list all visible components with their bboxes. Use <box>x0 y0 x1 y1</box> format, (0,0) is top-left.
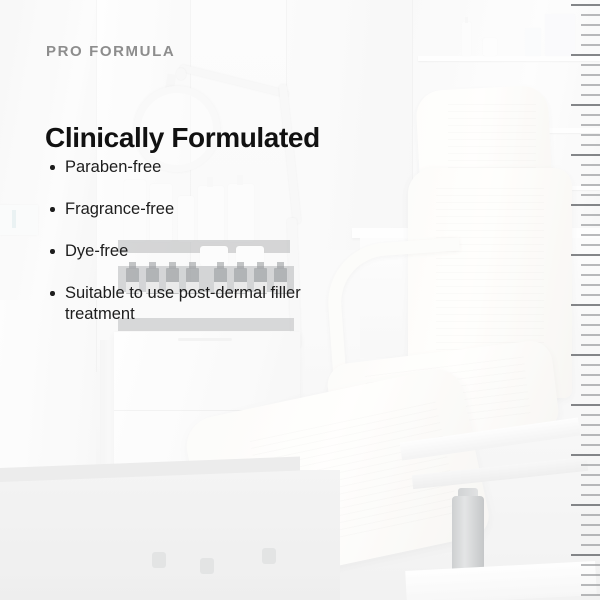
brand-eyebrow: PRO FORMULA <box>46 43 175 60</box>
page-title: Clinically Formulated <box>45 122 320 154</box>
promo-card: PRO FORMULA Clinically Formulated Parabe… <box>0 0 600 600</box>
benefit-item: Suitable to use post-dermal filler treat… <box>46 283 346 325</box>
benefit-item: Dye-free <box>46 241 346 262</box>
benefit-item: Fragrance-free <box>46 199 346 220</box>
benefits-list: Paraben-freeFragrance-freeDye-freeSuitab… <box>46 157 346 346</box>
text-overlay: PRO FORMULA Clinically Formulated Parabe… <box>0 0 600 600</box>
benefit-item: Paraben-free <box>46 157 346 178</box>
